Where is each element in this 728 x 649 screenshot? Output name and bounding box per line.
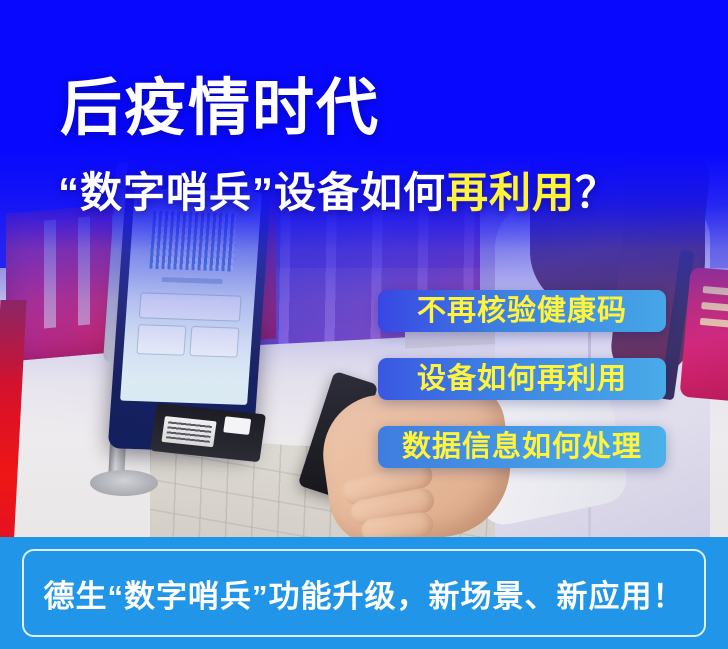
lcd-qr-code — [150, 211, 238, 272]
page-title: 后疫情时代 — [60, 78, 380, 140]
topic-pill-3-label: 数据信息如何处理 — [402, 433, 642, 462]
lcd-button-left — [136, 324, 186, 356]
reader-label — [161, 416, 216, 447]
subtitle-question-mark: ？ — [575, 169, 618, 216]
sign-line — [700, 318, 728, 330]
sign-line — [701, 302, 728, 312]
kiosk-lcd-display — [120, 188, 262, 405]
subtitle-highlight: 再利用 — [446, 169, 575, 216]
kiosk-card-reader — [150, 403, 266, 462]
topic-pill-2-label: 设备如何再利用 — [417, 365, 627, 394]
bottom-banner-text: 德生“数字哨兵”功能升级，新场景、新应用！ — [44, 571, 685, 616]
topic-pill-list: 不再核验健康码 设备如何再利用 数据信息如何处理 — [378, 290, 666, 494]
topic-pill-2[interactable]: 设备如何再利用 — [378, 358, 666, 400]
bottom-banner-frame: 德生“数字哨兵”功能升级，新场景、新应用！ — [22, 549, 706, 637]
lcd-button-right — [189, 326, 239, 358]
page-subtitle: “数字哨兵”设备如何再利用？ — [58, 172, 618, 214]
subtitle-lead: “数字哨兵”设备如何 — [58, 169, 446, 216]
reader-window — [223, 416, 251, 435]
bottom-banner: 德生“数字哨兵”功能升级，新场景、新应用！ — [0, 537, 728, 649]
lcd-button-wide — [139, 292, 242, 321]
topic-pill-1[interactable]: 不再核验健康码 — [378, 290, 666, 332]
topic-pill-1-label: 不再核验健康码 — [417, 297, 627, 326]
lcd-text-line — [161, 277, 222, 284]
topic-pill-3[interactable]: 数据信息如何处理 — [378, 426, 666, 468]
kiosk-base — [90, 470, 158, 496]
poster-root: 后疫情时代 “数字哨兵”设备如何再利用？ 不再核验健康码 设备如何再利用 数据信… — [0, 0, 728, 649]
sign-line — [703, 286, 728, 297]
